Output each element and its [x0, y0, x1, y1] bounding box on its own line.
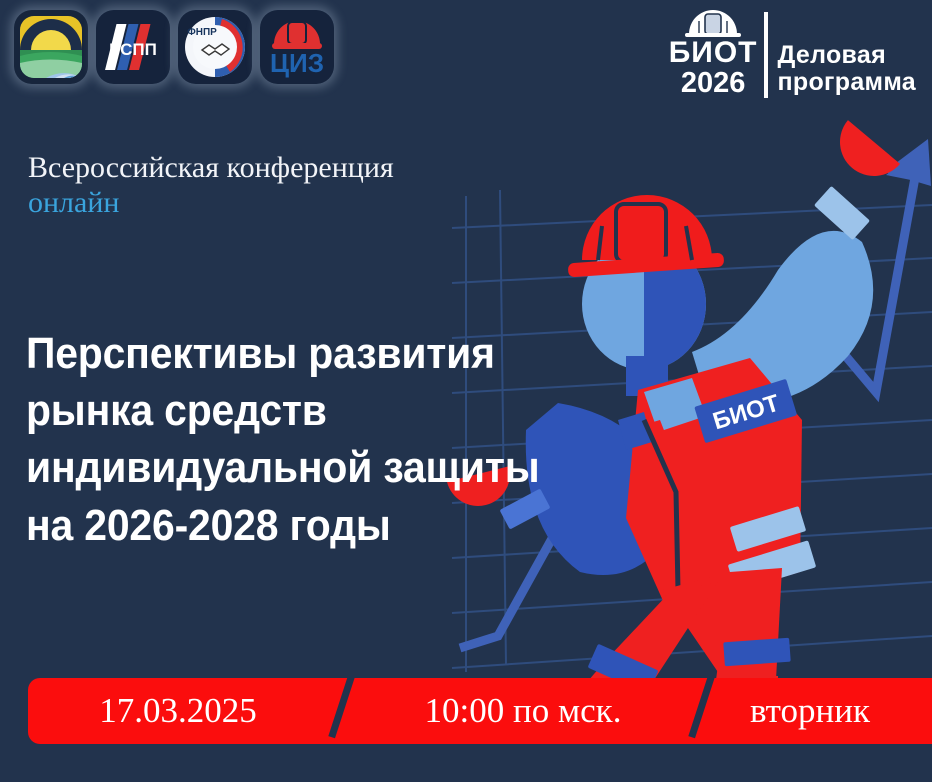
hard-hat-icon	[683, 8, 743, 38]
biot-word: БИОТ	[669, 39, 758, 68]
kicker-line-2: онлайн	[28, 185, 394, 220]
event-details-bar: 17.03.2025 10:00 по мск. вторник	[28, 678, 932, 744]
poster-root: РСПП ФНПР ЦИЗ	[0, 0, 932, 782]
headline-line-3: индивидуальной защиты	[26, 439, 584, 496]
biot-year: 2026	[681, 69, 746, 98]
ciz-logo[interactable]: ЦИЗ	[260, 10, 334, 84]
headline-line-1: Перспективы развития	[26, 325, 584, 382]
program-line-2: программа	[778, 69, 917, 96]
worker-front-knee-band	[723, 638, 791, 667]
biot-program-label: Деловая программа	[768, 42, 917, 98]
page-title: Перспективы развития рынка средств индив…	[26, 325, 626, 554]
headline-line-4: на 2026-2028 годы	[26, 497, 584, 554]
kicker-line-1: Всероссийская конференция	[28, 150, 394, 185]
program-line-1: Деловая	[778, 42, 917, 69]
biot-divider	[764, 12, 768, 98]
worker-raised-glove	[826, 120, 900, 190]
rspp-logo-text: РСПП	[109, 40, 157, 59]
divider-1	[328, 678, 358, 744]
rspp-logo[interactable]: РСПП	[96, 10, 170, 84]
event-weekday: вторник	[718, 678, 932, 744]
biot-brand-left: БИОТ 2026	[669, 8, 768, 98]
fnpr-logo-text: ФНПР	[187, 27, 217, 38]
worker-helmet-crown	[616, 204, 666, 262]
partner-logo-row: РСПП ФНПР ЦИЗ	[14, 10, 334, 84]
ciz-logo-text: ЦИЗ	[270, 48, 324, 78]
mintrud-logo[interactable]	[14, 10, 88, 84]
event-time: 10:00 по мск.	[358, 678, 688, 744]
divider-2	[688, 678, 718, 744]
biot-brand-lockup: БИОТ 2026 Деловая программа	[669, 8, 916, 98]
event-date: 17.03.2025	[28, 678, 328, 744]
headline-line-2: рынка средств	[26, 382, 584, 439]
conference-kicker: Всероссийская конференция онлайн	[28, 150, 394, 221]
fnpr-logo[interactable]: ФНПР	[178, 10, 252, 84]
